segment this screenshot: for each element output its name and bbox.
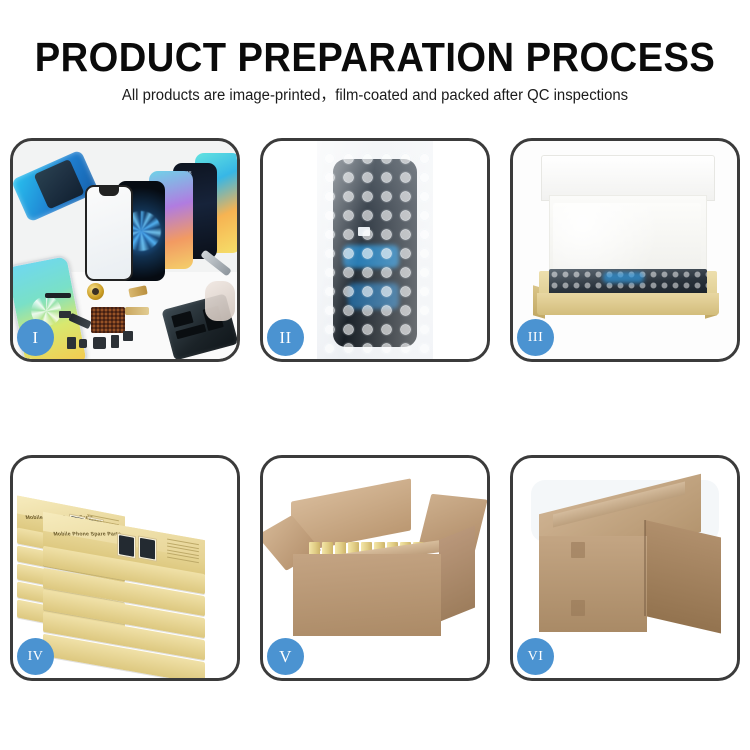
window-screen-c xyxy=(119,535,134,556)
step-card-ii: II xyxy=(260,138,490,362)
white-foam-padding xyxy=(553,203,701,275)
step-card-iii: III xyxy=(510,138,740,362)
sealed-carton-front-panel xyxy=(539,536,647,632)
part-small-d xyxy=(111,335,119,348)
box-label-text: Mobile Phone Spare Parts xyxy=(53,531,122,537)
step-card-v: V xyxy=(260,455,490,681)
technician-hand xyxy=(205,281,235,321)
part-small-a xyxy=(67,337,76,349)
blue-film-highlight xyxy=(603,272,644,282)
part-small-e xyxy=(123,331,133,341)
step-card-i: 08:08 xyxy=(10,138,240,362)
carton-corner-seam xyxy=(644,520,646,616)
carton-tab-upper xyxy=(571,542,585,558)
pcb-chip-a xyxy=(171,311,193,328)
step-badge-ii: II xyxy=(267,319,304,356)
box-window-c xyxy=(117,533,136,559)
plastic-sheen xyxy=(317,141,433,359)
carton-tab-lower xyxy=(571,600,585,616)
part-copper-tape xyxy=(125,307,149,315)
step-badge-i: I xyxy=(17,319,54,356)
carton-side-panel xyxy=(439,525,475,622)
box-front-wall xyxy=(537,293,719,315)
box-feature-lines-b xyxy=(167,539,199,567)
step-badge-iv: IV xyxy=(17,638,54,675)
product-preparation-infographic: PRODUCT PREPARATION PROCESS All products… xyxy=(0,0,750,750)
step-badge-vi: VI xyxy=(517,638,554,675)
step-badge-iii: III xyxy=(517,319,554,356)
box-window-d xyxy=(138,535,157,561)
steps-grid: 08:08 xyxy=(10,138,740,683)
page-title: PRODUCT PREPARATION PROCESS xyxy=(26,34,724,80)
page-subtitle: All products are image-printed，film-coat… xyxy=(15,86,735,106)
screen-glass-panel xyxy=(85,185,133,281)
part-connector-strip xyxy=(45,293,71,298)
step-badge-v: V xyxy=(267,638,304,675)
step-card-iv: Mobile Phone Spare Parts Mobile Phone Sp… xyxy=(10,455,240,681)
part-small-f xyxy=(59,311,71,318)
packed-screens-row xyxy=(549,269,707,295)
part-screw-tray xyxy=(91,307,125,333)
header: PRODUCT PREPARATION PROCESS All products… xyxy=(0,0,750,120)
window-screen-d xyxy=(140,538,155,559)
part-small-b xyxy=(79,339,87,348)
part-small-c xyxy=(93,337,106,349)
carton-front-panel xyxy=(293,554,441,636)
sealed-carton-right-panel xyxy=(645,520,721,634)
step-card-vi: VI xyxy=(510,455,740,681)
part-speaker-coil xyxy=(87,283,104,300)
